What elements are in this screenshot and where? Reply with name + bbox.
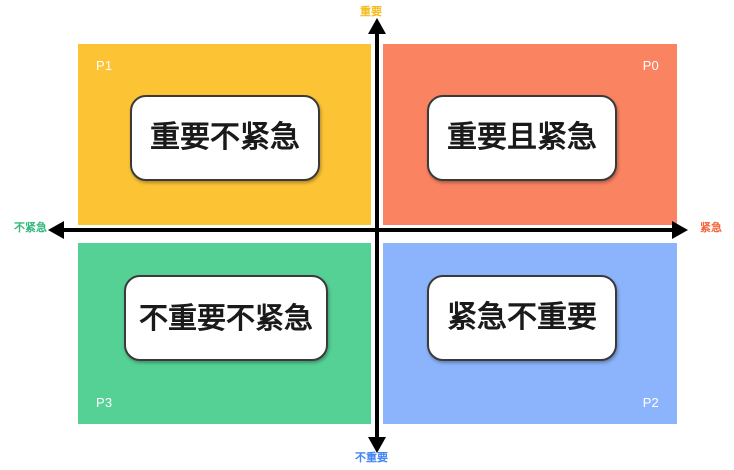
arrow-left-icon <box>48 221 64 239</box>
card-not-important-not-urgent[interactable]: 不重要不紧急 <box>124 275 328 361</box>
arrow-up-icon <box>368 18 386 34</box>
card-p0-text: 重要且紧急 <box>447 123 597 153</box>
eisenhower-matrix-diagram: P1 P0 P3 P2 重要 不重要 不紧急 紧急 重要不紧急 重要且紧急 不重… <box>0 0 734 470</box>
card-p2-text: 紧急不重要 <box>447 303 597 333</box>
axis-label-not-important: 不重要 <box>355 452 388 463</box>
card-p3-text: 不重要不紧急 <box>139 304 313 333</box>
quadrant-p1-priority-label: P1 <box>96 59 112 72</box>
axis-label-not-urgent: 不紧急 <box>14 222 47 233</box>
card-important-not-urgent[interactable]: 重要不紧急 <box>130 95 320 181</box>
axis-label-important: 重要 <box>360 6 382 17</box>
card-urgent-not-important[interactable]: 紧急不重要 <box>427 275 617 361</box>
horizontal-axis-line <box>60 228 676 232</box>
card-p1-text: 重要不紧急 <box>150 123 300 153</box>
quadrant-p3-priority-label: P3 <box>96 396 112 409</box>
card-important-and-urgent[interactable]: 重要且紧急 <box>427 95 617 181</box>
quadrant-p2-priority-label: P2 <box>643 396 659 409</box>
arrow-right-icon <box>672 221 688 239</box>
axis-label-urgent: 紧急 <box>700 222 722 233</box>
vertical-axis-line <box>375 30 379 445</box>
quadrant-p0-priority-label: P0 <box>643 59 659 72</box>
